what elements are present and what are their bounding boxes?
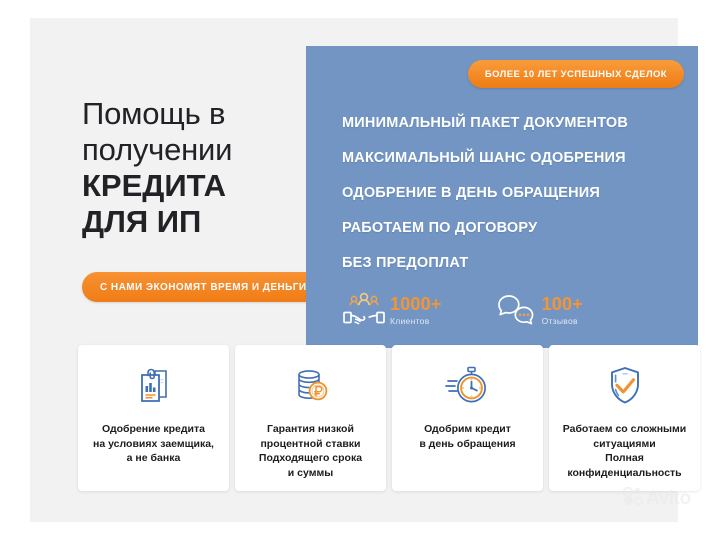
hero-title-line-3: КРЕДИТА xyxy=(82,168,307,204)
document-chart-icon xyxy=(130,362,178,410)
feature-card-same-day[interactable]: Одобрим кредит в день обращения xyxy=(392,345,543,491)
fast-stopwatch-icon xyxy=(444,362,492,410)
stat-clients-value: 1000+ xyxy=(390,295,442,313)
content-plate: Помощь в получении КРЕДИТА ДЛЯ ИП С НАМИ… xyxy=(30,18,678,522)
feature-line: Одобрим кредит xyxy=(424,423,511,435)
feature-card-low-rate[interactable]: Гарантия низкой процентной ставки Подход… xyxy=(235,345,386,491)
hero-heading: Помощь в получении КРЕДИТА ДЛЯ ИП xyxy=(82,96,307,240)
feature-card-loan-terms[interactable]: Одобрение кредита на условиях заемщика, … xyxy=(78,345,229,491)
feature-cards: Одобрение кредита на условиях заемщика, … xyxy=(78,345,706,491)
feature-card-text: Гарантия низкой процентной ставки Подход… xyxy=(251,422,370,480)
feature-line: ситуациями xyxy=(593,438,656,450)
stat-reviews-text: 100+ Отзывов xyxy=(542,295,583,326)
feature-line: Полная xyxy=(605,452,644,464)
feature-line: и суммы xyxy=(288,467,333,479)
feature-line: в день обращения xyxy=(419,438,515,450)
hero-badge-label: С НАМИ ЭКОНОМЯТ ВРЕМЯ И ДЕНЬГИ xyxy=(100,282,307,293)
feature-card-text: Одобрение кредита на условиях заемщика, … xyxy=(85,422,222,466)
benefit-item: МИНИМАЛЬНЫЙ ПАКЕТ ДОКУМЕНТОВ xyxy=(342,106,680,141)
experience-badge-label: БОЛЕЕ 10 ЛЕТ УСПЕШНЫХ СДЕЛОК xyxy=(485,69,667,80)
advertisement-canvas: Помощь в получении КРЕДИТА ДЛЯ ИП С НАМИ… xyxy=(0,0,708,540)
stat-clients-text: 1000+ Клиентов xyxy=(390,295,442,326)
benefits-panel: БОЛЕЕ 10 ЛЕТ УСПЕШНЫХ СДЕЛОК МИНИМАЛЬНЫЙ… xyxy=(306,46,698,348)
feature-card-text: Работаем со сложными ситуациями Полная к… xyxy=(555,422,695,480)
benefit-item: РАБОТАЕМ ПО ДОГОВОРУ xyxy=(342,211,680,246)
stat-clients: 1000+ Клиентов xyxy=(342,290,442,330)
feature-line: Гарантия низкой xyxy=(267,423,354,435)
feature-line: Подходящего срока xyxy=(259,452,362,464)
feature-line: процентной ставки xyxy=(260,438,360,450)
benefit-item: МАКСИМАЛЬНЫЙ ШАНС ОДОБРЕНИЯ xyxy=(342,141,680,176)
coins-ruble-icon xyxy=(287,362,335,410)
avito-watermark: Avito xyxy=(622,486,691,511)
handshake-icon xyxy=(342,290,386,330)
benefits-list: МИНИМАЛЬНЫЙ ПАКЕТ ДОКУМЕНТОВ МАКСИМАЛЬНЫ… xyxy=(342,106,680,281)
feature-line: на условиях заемщика, xyxy=(93,438,214,450)
hero-title-line-4: ДЛЯ ИП xyxy=(82,204,307,240)
avito-watermark-text: Avito xyxy=(646,489,691,508)
feature-card-confidentiality[interactable]: Работаем со сложными ситуациями Полная к… xyxy=(549,345,700,491)
hero-title-line-1: Помощь в xyxy=(82,96,307,132)
feature-line: Одобрение кредита xyxy=(102,423,205,435)
benefit-item: ОДОБРЕНИЕ В ДЕНЬ ОБРАЩЕНИЯ xyxy=(342,176,680,211)
hero-badge[interactable]: С НАМИ ЭКОНОМЯТ ВРЕМЯ И ДЕНЬГИ xyxy=(82,272,325,302)
stats-row: 1000+ Клиентов xyxy=(342,290,583,330)
benefit-item: БЕЗ ПРЕДОПЛАТ xyxy=(342,246,680,281)
speech-bubbles-icon xyxy=(494,290,538,330)
feature-line: а не банка xyxy=(127,452,181,464)
stat-clients-label: Клиентов xyxy=(390,316,442,326)
feature-line: Работаем со сложными xyxy=(563,423,687,435)
hero-title-line-2: получении xyxy=(82,132,307,168)
feature-line: конфиденциальность xyxy=(567,467,681,479)
stat-reviews: 100+ Отзывов xyxy=(494,290,583,330)
avito-logo-icon xyxy=(622,486,644,511)
experience-badge[interactable]: БОЛЕЕ 10 ЛЕТ УСПЕШНЫХ СДЕЛОК xyxy=(468,60,684,88)
feature-card-text: Одобрим кредит в день обращения xyxy=(411,422,523,451)
shield-check-icon xyxy=(601,362,649,410)
stat-reviews-value: 100+ xyxy=(542,295,583,313)
stat-reviews-label: Отзывов xyxy=(542,316,583,326)
